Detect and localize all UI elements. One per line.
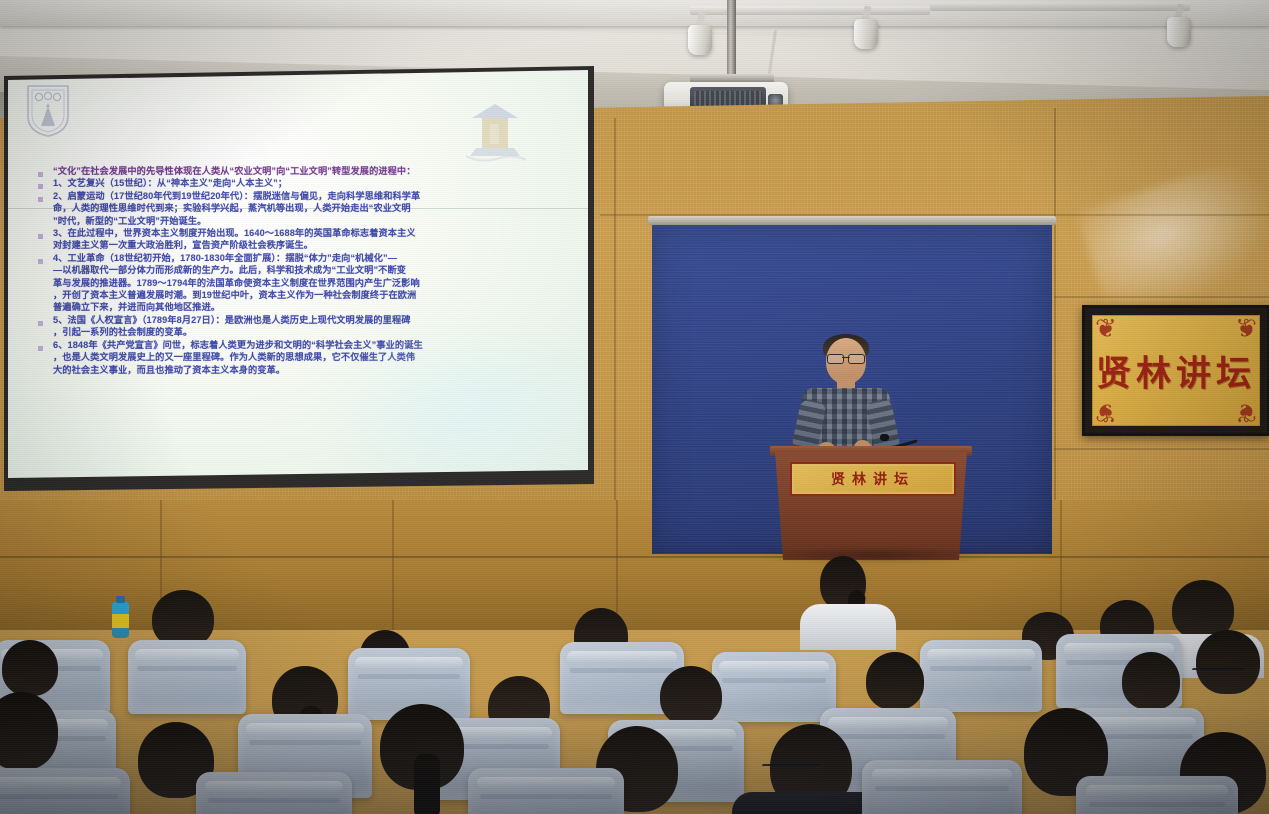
audience-ponytail xyxy=(414,754,440,814)
slide-bullet-icon xyxy=(38,259,43,264)
water-bottle-cap xyxy=(116,596,125,603)
slide-line: 4、工业革命（18世纪初开始，1780-1830年全面扩展）：摆脱“体力”走向“… xyxy=(24,253,576,264)
slide-line-text: —以机器取代一部分体力而形成新的生产力。此后，科学和技术成为“工业文明”不断变 xyxy=(53,265,576,276)
projection-screen[interactable]: “文化”在社会发展中的先导性体现在人类从“农业文明”向“工业文明”转型发展的进程… xyxy=(8,70,588,478)
slide-line-text: 3、在此过程中，世界资本主义制度开始出现。1640～1688年的英国革命标志着资… xyxy=(53,228,576,239)
slide-line: 普遍确立下来，并进而向其他地区推进。 xyxy=(24,302,576,313)
slide-bullet-spacer xyxy=(38,209,43,214)
glasses-icon xyxy=(1192,668,1244,678)
screen-glare xyxy=(308,320,588,478)
slide-line-text: 对封建主义第一次重大政治胜利，宣告资产阶级社会秩序诞生。 xyxy=(53,240,576,251)
wall-seam-horizontal xyxy=(1054,296,1269,298)
slide-bullet-spacer xyxy=(38,271,43,276)
audience-head xyxy=(1122,652,1180,710)
slide-line: 命，人类的理性思维时代到来；实验科学兴起，蒸汽机等出现，人类开始走出“农业文明 xyxy=(24,203,576,214)
audience-head xyxy=(2,640,58,696)
slide-line-text: ，开创了资本主义普遍发展时潮。到19世纪中叶，资本主义作为一种社会制度终于在欧洲 xyxy=(53,290,576,301)
slide-bullet-icon xyxy=(38,184,43,189)
projector-mount-pipe xyxy=(727,0,736,82)
plaque-corner-ornament-icon: ❦ xyxy=(1227,398,1257,424)
slide-bullet-spacer xyxy=(38,246,43,251)
seat[interactable] xyxy=(468,768,624,814)
slide-bullet-spacer xyxy=(38,222,43,227)
slide-bullet-icon xyxy=(38,172,43,177)
slide-line-text: ”时代，新型的“工业文明”开始诞生。 xyxy=(53,216,576,227)
slide-line: 3、在此过程中，世界资本主义制度开始出现。1640～1688年的英国革命标志着资… xyxy=(24,228,576,239)
wall-seam xyxy=(614,118,616,538)
plaque-corner-ornament-icon: ❦ xyxy=(1095,398,1125,424)
slide-line-text: 革与发展的推进器。1789～1794年的法国革命使资本主义制度在世界范围内产生广… xyxy=(53,278,576,289)
plaque-corner-ornament-icon: ❦ xyxy=(1095,317,1125,343)
slide-bullet-spacer xyxy=(38,296,43,301)
slide-line: ，开创了资本主义普遍发展时潮。到19世纪中叶，资本主义作为一种社会制度终于在欧洲 xyxy=(24,290,576,301)
slide-bullet-spacer xyxy=(38,333,43,338)
university-crest-icon xyxy=(26,84,70,138)
seat[interactable] xyxy=(1076,776,1238,814)
plaque-corner-ornament-icon: ❦ xyxy=(1227,317,1257,343)
audience-shoulders xyxy=(800,604,896,650)
wall-seam-horizontal xyxy=(1054,448,1269,450)
slide-line: 对封建主义第一次重大政治胜利，宣告资产阶级社会秩序诞生。 xyxy=(24,240,576,251)
seat[interactable] xyxy=(196,772,352,814)
slide-bullet-spacer xyxy=(38,371,43,376)
podium-name-plate: 贤林讲坛 xyxy=(790,462,956,496)
slide-line: “文化”在社会发展中的先导性体现在人类从“农业文明”向“工业文明”转型发展的进程… xyxy=(24,166,576,177)
microphone-icon xyxy=(884,424,920,448)
lighting-track-right xyxy=(930,2,1190,11)
seat[interactable] xyxy=(920,640,1042,712)
seat[interactable] xyxy=(712,652,836,722)
slide-bullet-icon xyxy=(38,321,43,326)
audience-seating xyxy=(0,556,1269,814)
seat[interactable] xyxy=(862,760,1022,814)
backdrop-rail xyxy=(648,216,1056,225)
slide-bullet-icon xyxy=(38,197,43,202)
slide-line: —以机器取代一部分体力而形成新的生产力。此后，科学和技术成为“工业文明”不断变 xyxy=(24,265,576,276)
glasses-icon xyxy=(762,764,820,774)
podium-plate-text: 贤林讲坛 xyxy=(792,469,954,489)
wall-plaque: ❦ ❦ ❦ ❦ 贤林讲坛 xyxy=(1082,305,1269,436)
slide-line-text: 2、启蒙运动（17世纪80年代到19世纪20年代）：摆脱迷信与偏见，走向科学思维… xyxy=(53,191,576,202)
slide-bullet-icon xyxy=(38,346,43,351)
glasses-icon xyxy=(827,354,865,362)
slide-bullet-icon xyxy=(38,234,43,239)
lighting-track xyxy=(690,6,930,15)
pagoda-watermark-icon xyxy=(460,92,530,166)
plaque-inner: ❦ ❦ ❦ ❦ 贤林讲坛 xyxy=(1092,315,1260,426)
seat[interactable] xyxy=(128,640,246,714)
slide-line: 革与发展的推进器。1789～1794年的法国革命使资本主义制度在世界范围内产生广… xyxy=(24,278,576,289)
water-bottle[interactable] xyxy=(112,602,129,638)
lecture-hall-photo: “文化”在社会发展中的先导性体现在人类从“农业文明”向“工业文明”转型发展的进程… xyxy=(0,0,1269,814)
plaque-text: 贤林讲坛 xyxy=(1093,345,1259,396)
slide-bullet-spacer xyxy=(38,308,43,313)
slide-line-text: 4、工业革命（18世纪初开始，1780-1830年全面扩展）：摆脱“体力”走向“… xyxy=(53,253,576,264)
audience-head xyxy=(1196,630,1260,694)
slide-bullet-spacer xyxy=(38,284,43,289)
slide-line-text: “文化”在社会发展中的先导性体现在人类从“农业文明”向“工业文明”转型发展的进程… xyxy=(53,166,576,177)
wall-seam xyxy=(1054,108,1056,558)
slide-bullet-spacer xyxy=(38,358,43,363)
slide-line-text: 1、文艺复兴（15世纪）：从“神本主义”走向“人本主义”； xyxy=(53,178,576,189)
slide-line: 1、文艺复兴（15世纪）：从“神本主义”走向“人本主义”； xyxy=(24,178,576,189)
slide-line-text: 命，人类的理性思维时代到来；实验科学兴起，蒸汽机等出现，人类开始走出“农业文明 xyxy=(53,203,576,214)
audience-head xyxy=(660,666,722,726)
slide-line: ”时代，新型的“工业文明”开始诞生。 xyxy=(24,216,576,227)
slide-line: 2、启蒙运动（17世纪80年代到19世纪20年代）：摆脱迷信与偏见，走向科学思维… xyxy=(24,191,576,202)
seat[interactable] xyxy=(0,768,130,814)
slide-line-text: 普遍确立下来，并进而向其他地区推进。 xyxy=(53,302,576,313)
audience-head xyxy=(866,652,924,710)
